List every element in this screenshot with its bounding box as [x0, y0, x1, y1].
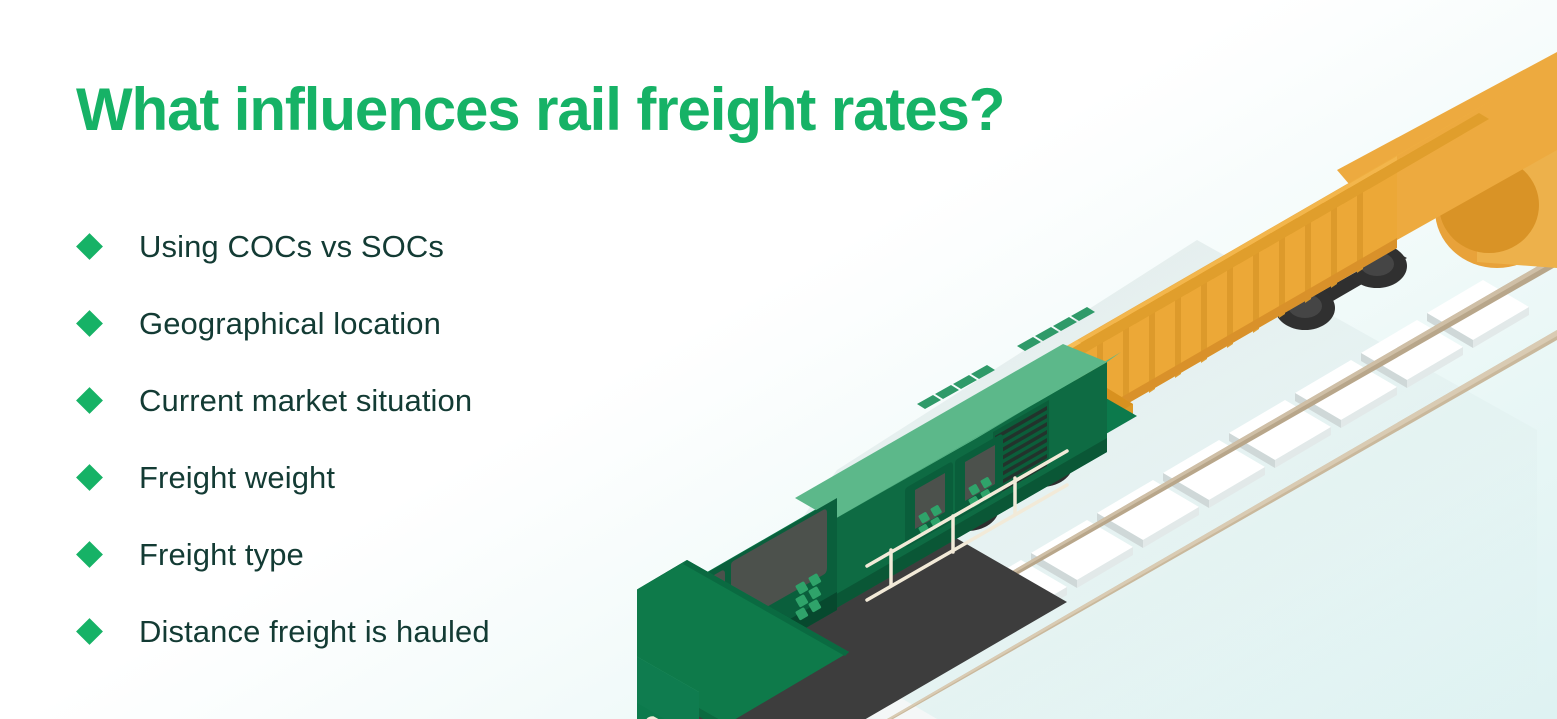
diamond-bullet-icon	[76, 387, 103, 414]
list-item-label: Freight weight	[139, 462, 335, 493]
list-item: Current market situation	[76, 362, 490, 439]
list-item: Geographical location	[76, 285, 490, 362]
list-item: Distance freight is hauled	[76, 593, 490, 670]
infographic-canvas: What influences rail freight rates? Usin…	[0, 0, 1557, 719]
list-item: Using COCs vs SOCs	[76, 208, 490, 285]
diamond-bullet-icon	[76, 618, 103, 645]
list-item: Freight weight	[76, 439, 490, 516]
diamond-bullet-icon	[76, 541, 103, 568]
list-item-label: Distance freight is hauled	[139, 616, 490, 647]
list-item-label: Geographical location	[139, 308, 441, 339]
diamond-bullet-icon	[76, 310, 103, 337]
diamond-bullet-icon	[76, 464, 103, 491]
list-item: Freight type	[76, 516, 490, 593]
page-title: What influences rail freight rates?	[76, 78, 1004, 142]
list-item-label: Using COCs vs SOCs	[139, 231, 444, 262]
list-item-label: Current market situation	[139, 385, 472, 416]
diamond-bullet-icon	[76, 233, 103, 260]
list-item-label: Freight type	[139, 539, 304, 570]
influences-bullet-list: Using COCs vs SOCs Geographical location…	[76, 208, 490, 670]
